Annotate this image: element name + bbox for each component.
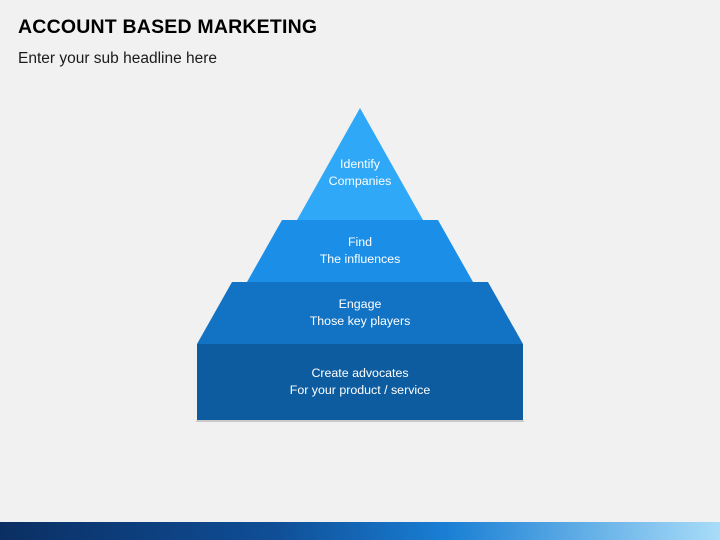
pyramid-level-3-shape [185, 282, 535, 344]
pyramid-level-4[interactable]: Create advocates For your product / serv… [185, 344, 535, 422]
pyramid-diagram: Identify Companies Find The influences [185, 108, 535, 428]
page-title: ACCOUNT BASED MARKETING [18, 16, 317, 39]
pyramid-level-2-shape [185, 220, 535, 282]
pyramid-level-1-shape [185, 108, 535, 220]
slide: ACCOUNT BASED MARKETING Enter your sub h… [0, 0, 720, 540]
pyramid-level-2[interactable]: Find The influences [185, 220, 535, 282]
pyramid-level-3[interactable]: Engage Those key players [185, 282, 535, 344]
pyramid-level-4-shape [185, 344, 535, 422]
footer-bar [0, 522, 720, 540]
page-subtitle: Enter your sub headline here [18, 50, 217, 68]
pyramid-level-1[interactable]: Identify Companies [185, 108, 535, 220]
